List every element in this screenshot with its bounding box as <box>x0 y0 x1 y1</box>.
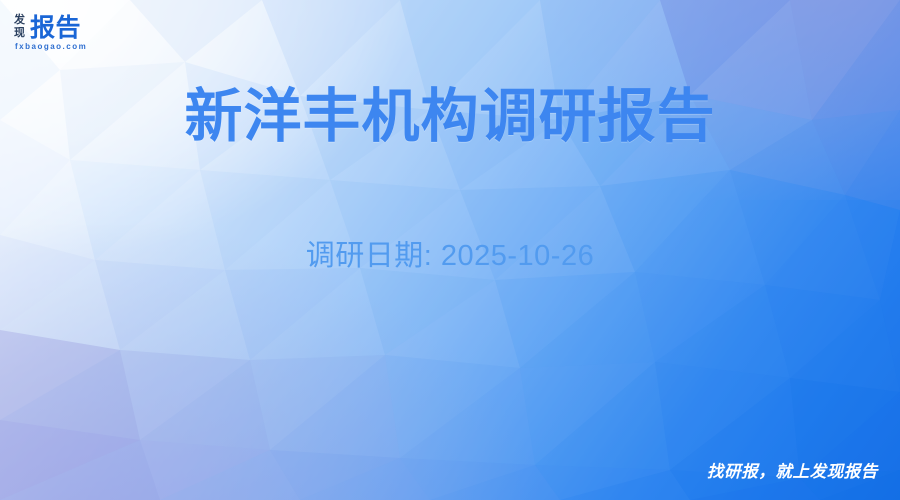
subtitle-block: 调研日期: 2025-10-26 <box>0 232 900 274</box>
logo-mark-top: 发 <box>14 12 26 26</box>
page-title: 新洋丰机构调研报告 <box>0 86 900 149</box>
fxbaogao-logo-icon[interactable]: 发 现 报告 fxbaogao.com <box>14 8 134 54</box>
title-block: 新洋丰机构调研报告 <box>0 86 900 149</box>
logo-mark-bottom: 现 <box>14 26 25 39</box>
survey-date-subtitle: 调研日期: 2025-10-26 <box>0 232 900 274</box>
logo-wordmark: 报告 <box>30 14 81 42</box>
footer-tagline: 找研报，就上发现报告 <box>707 458 878 482</box>
logo-domain: fxbaogao.com <box>15 42 87 51</box>
report-cover: 发 现 报告 fxbaogao.com 新洋丰机构调研报告 调研日期: 2025… <box>0 0 900 500</box>
